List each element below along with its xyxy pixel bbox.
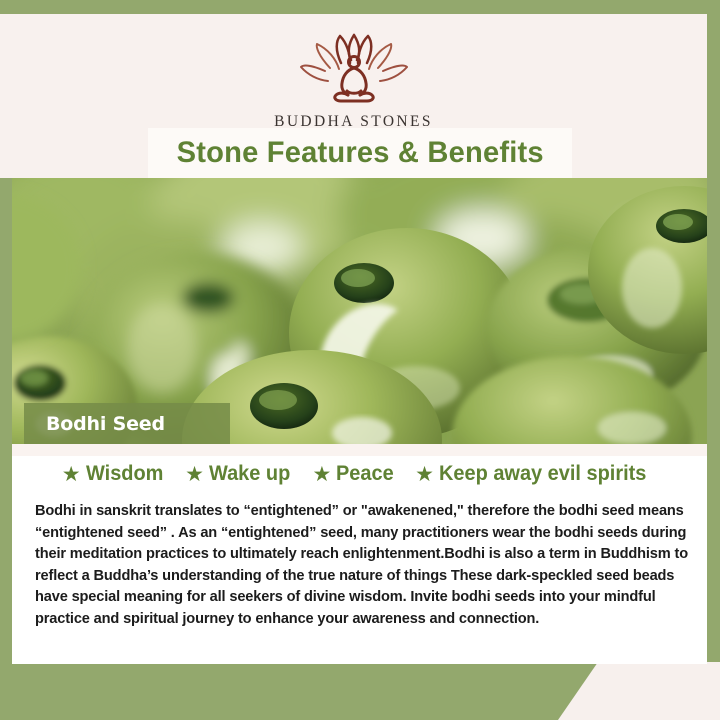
benefit-item-peace: ★ Peace xyxy=(304,462,407,486)
description-block: Bodhi in sanskrit translates to “entight… xyxy=(35,501,690,630)
star-icon: ★ xyxy=(415,464,434,485)
lotus-meditation-figure-icon xyxy=(295,32,413,106)
benefit-item-wake-up: ★ Wake up xyxy=(176,462,303,486)
bottom-right-diagonal-notch xyxy=(520,662,720,720)
panel-top-tint xyxy=(12,444,707,456)
star-icon: ★ xyxy=(313,464,332,485)
description-text: Bodhi in sanskrit translates to “entight… xyxy=(35,501,690,630)
bottom-green-band xyxy=(0,662,720,720)
brand-logo: BUDDHA STONES xyxy=(0,32,707,131)
photo-caption-text: Bodhi Seed xyxy=(46,413,165,435)
benefits-list: ★ Wisdom ★ Wake up ★ Peace ★ Keep away e… xyxy=(12,462,707,486)
star-icon: ★ xyxy=(62,464,81,485)
infographic-canvas: BUDDHA STONES Stone Features & Benefits xyxy=(0,0,720,720)
photo-caption-badge: Bodhi Seed xyxy=(24,403,230,444)
benefit-label: Wisdom xyxy=(86,462,163,486)
benefit-label: Keep away evil spirits xyxy=(439,462,646,486)
content-panel: ★ Wisdom ★ Wake up ★ Peace ★ Keep away e… xyxy=(12,444,707,664)
page-title: Stone Features & Benefits xyxy=(176,136,543,170)
benefit-label: Wake up xyxy=(209,462,290,486)
star-icon: ★ xyxy=(185,464,204,485)
title-banner: Stone Features & Benefits xyxy=(148,128,572,178)
bodhi-seed-beads-photo: Bodhi Seed xyxy=(12,178,707,444)
benefit-item-wisdom: ★ Wisdom xyxy=(53,462,176,486)
benefit-item-keep-away-evil-spirits: ★ Keep away evil spirits xyxy=(406,462,666,486)
benefit-label: Peace xyxy=(336,462,394,486)
